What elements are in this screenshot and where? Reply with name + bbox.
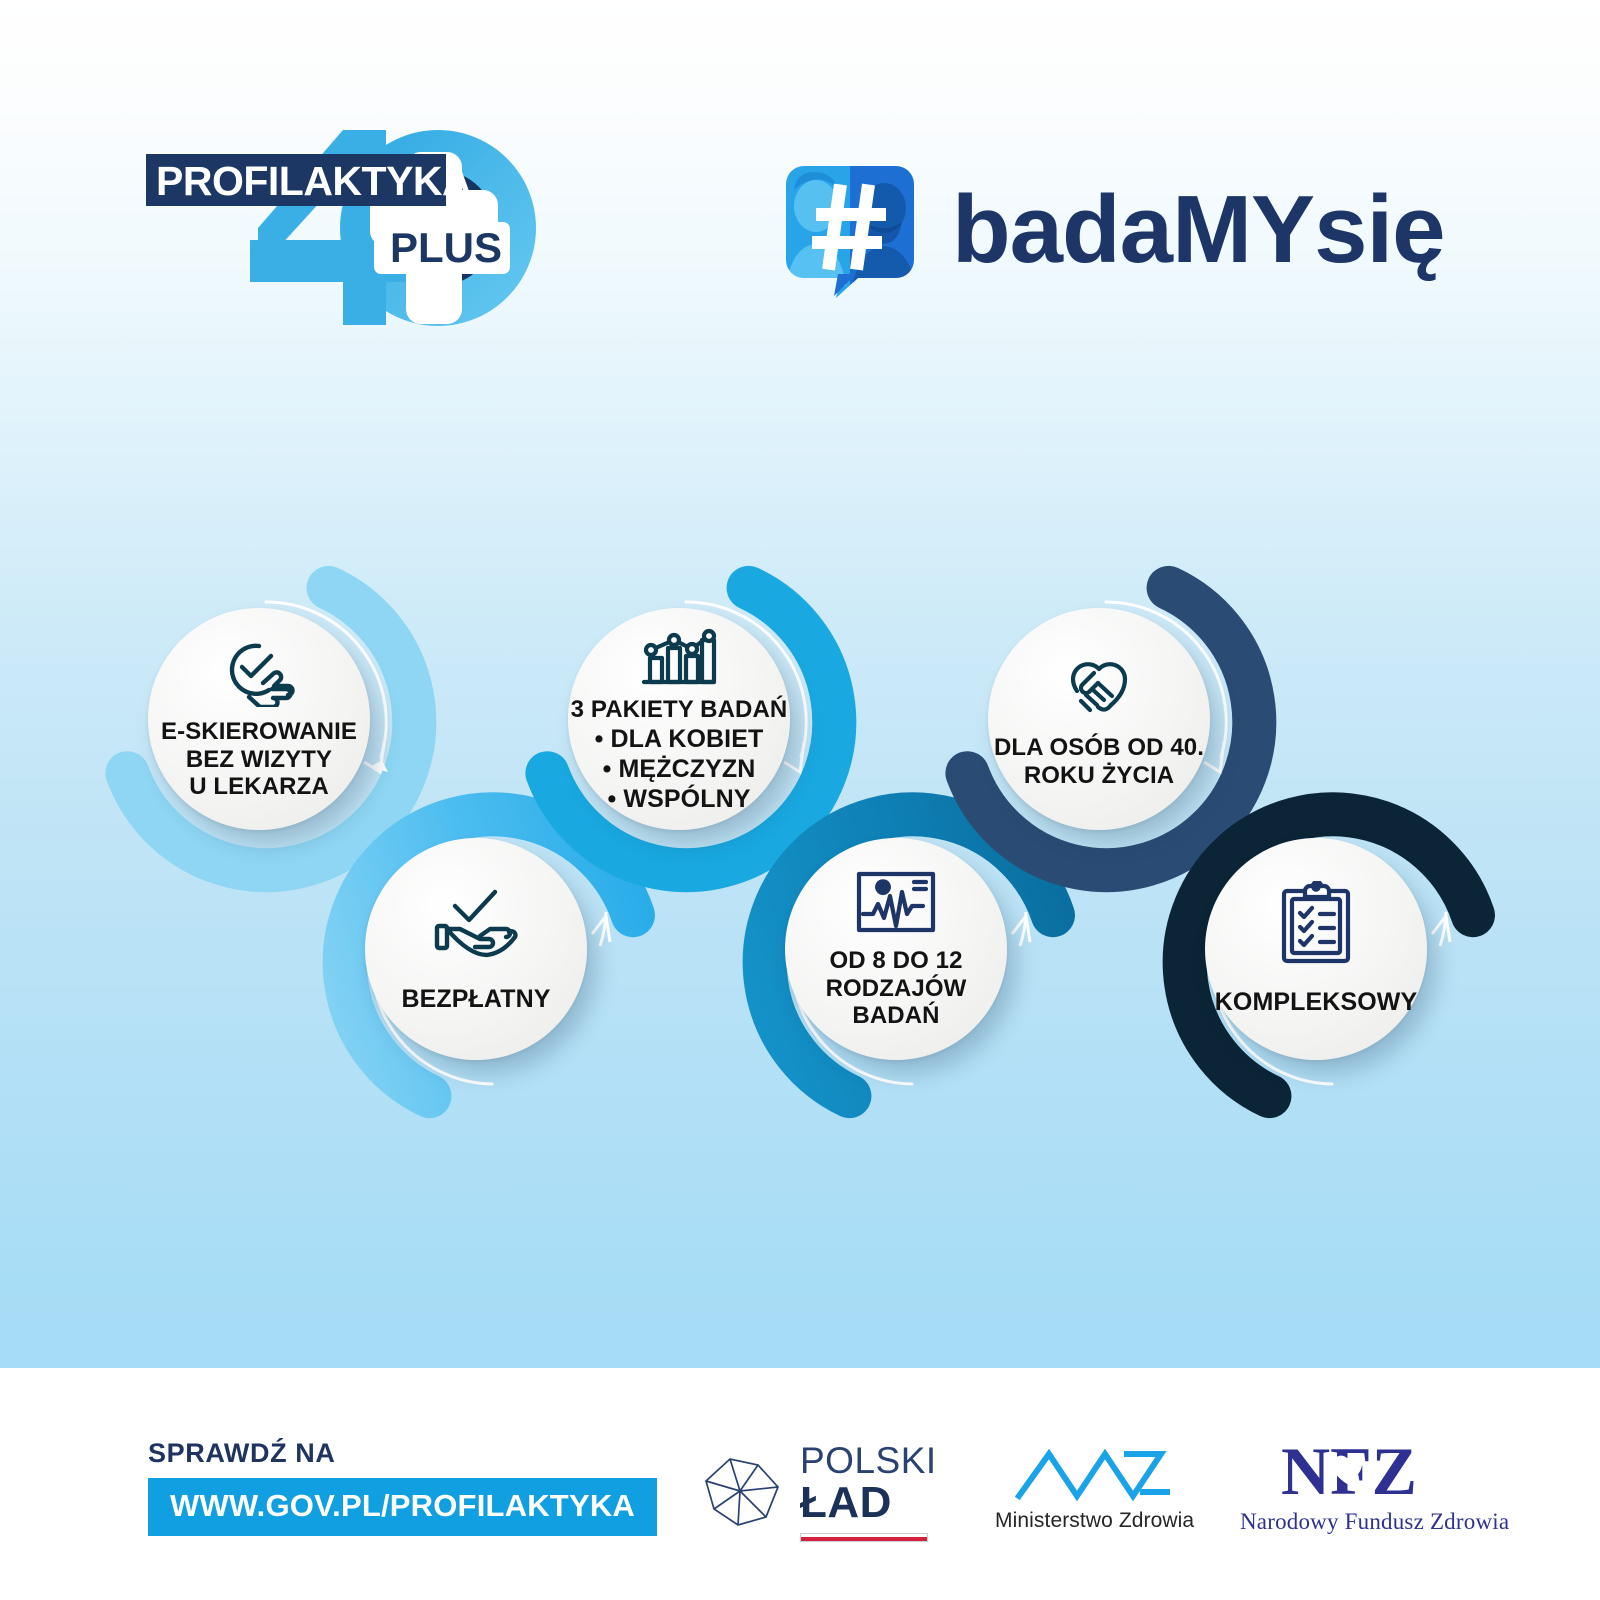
mz-zigzag-icon <box>1015 1489 1175 1506</box>
node-label: OD 8 DO 12 RODZAJÓW BADAŃ <box>826 947 967 1030</box>
logo-polski-lad: POLSKI ŁAD <box>700 1442 937 1542</box>
cta-url-link[interactable]: WWW.GOV.PL/PROFILAKTYKA <box>148 1478 657 1536</box>
logo-profilaktyka-40-plus: PROFILAKTYKA PLUS <box>138 110 568 330</box>
node-line: DLA OSÓB OD 40. <box>994 734 1204 762</box>
node-line: ROKU ŻYCIA <box>994 762 1204 790</box>
node-bullet: • DLA KOBIET <box>571 724 788 754</box>
bar-chart-icon <box>638 624 720 693</box>
logo-nfz: NFZ Narodowy Fundusz Zdrowia <box>1240 1440 1509 1535</box>
nfz-name: Narodowy Fundusz Zdrowia <box>1240 1509 1509 1535</box>
polish-flag-bar <box>800 1533 928 1542</box>
cta-label: SPRAWDŹ NA <box>148 1438 618 1469</box>
node-label: DLA OSÓB OD 40. ROKU ŻYCIA <box>994 734 1204 790</box>
ecg-monitor-icon <box>854 868 938 941</box>
nfz-heart-icon: NFZ <box>1281 1489 1469 1506</box>
node-bullet: • MĘŻCZYZN <box>571 754 788 784</box>
ministry-name: Ministerstwo Zdrowia <box>995 1509 1194 1533</box>
node-e-skierowanie[interactable]: E-SKIEROWANIE BEZ WIZYTY U LEKARZA <box>148 608 370 830</box>
node-pakiety-badan[interactable]: 3 PAKIETY BADAŃ • DLA KOBIET • MĘŻCZYZN … <box>568 608 790 830</box>
hand-check-icon <box>431 884 521 965</box>
node-od-40-roku-zycia[interactable]: DLA OSÓB OD 40. ROKU ŻYCIA <box>988 608 1210 830</box>
node-line: KOMPLEKSOWY <box>1215 988 1418 1017</box>
node-line: BADAŃ <box>826 1002 967 1030</box>
logo-badamysie: badaMYsię <box>782 150 1542 310</box>
node-line: OD 8 DO 12 <box>826 947 967 975</box>
node-kompleksowy[interactable]: KOMPLEKSOWY <box>1205 838 1427 1060</box>
node-line: 3 PAKIETY BADAŃ <box>571 695 788 724</box>
logo-plus-word: PLUS <box>390 224 502 271</box>
node-line: RODZAJÓW <box>826 975 967 1003</box>
node-bezplatny[interactable]: BEZPŁATNY <box>365 838 587 1060</box>
polski-lad-line2: ŁAD <box>800 1481 937 1525</box>
node-label: E-SKIEROWANIE BEZ WIZYTY U LEKARZA <box>161 718 357 801</box>
node-line: BEZ WIZYTY <box>161 746 357 774</box>
logo-profilaktyka-word: PROFILAKTYKA <box>156 158 471 204</box>
node-label: KOMPLEKSOWY <box>1215 988 1418 1017</box>
node-rodzaje-badan[interactable]: OD 8 DO 12 RODZAJÓW BADAŃ <box>785 838 1007 1060</box>
footer-cta: SPRAWDŹ NA WWW.GOV.PL/PROFILAKTYKA <box>148 1438 618 1536</box>
infographic-poster: PROFILAKTYKA PLUS <box>0 0 1600 1600</box>
logo-badamysie-wordmark: badaMYsię <box>952 182 1445 278</box>
node-line: E-SKIEROWANIE <box>161 718 357 746</box>
clipboard-checklist-icon <box>1278 881 1354 970</box>
logo-ministerstwo-zdrowia: Ministerstwo Zdrowia <box>995 1446 1194 1533</box>
click-check-icon <box>217 637 301 712</box>
node-line: BEZPŁATNY <box>401 985 550 1014</box>
node-bullet: • WSPÓLNY <box>571 784 788 814</box>
poland-polygon-icon <box>700 1451 786 1534</box>
node-line: U LEKARZA <box>161 773 357 801</box>
heart-handshake-icon <box>1056 649 1142 728</box>
speech-bubble-faces-icon <box>782 162 918 298</box>
polski-lad-line1: POLSKI <box>800 1442 937 1479</box>
node-label: 3 PAKIETY BADAŃ • DLA KOBIET • MĘŻCZYZN … <box>571 695 788 814</box>
node-label: BEZPŁATNY <box>401 985 550 1014</box>
